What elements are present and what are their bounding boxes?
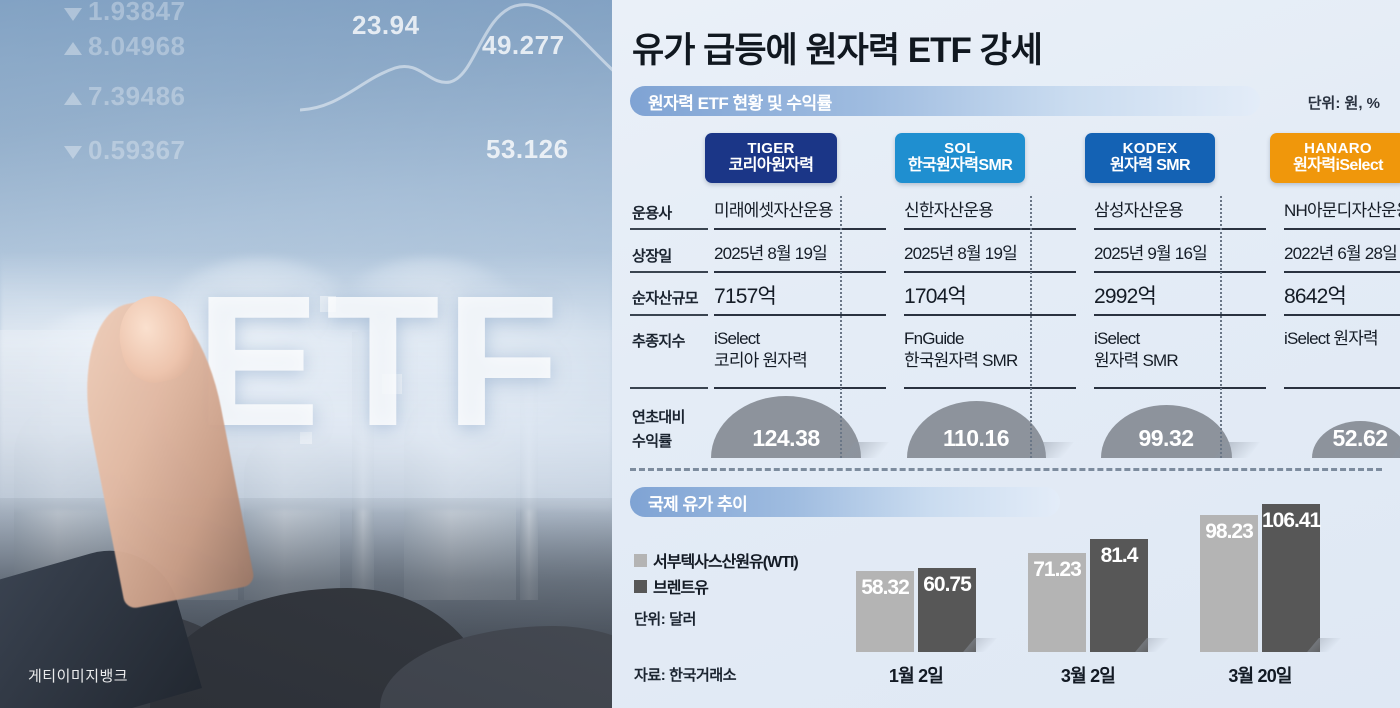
divider: [630, 271, 708, 273]
ytd-return-gauge: 124.38: [711, 396, 861, 458]
legend-swatch-brent: [634, 580, 647, 593]
hud-number: 8.04968: [88, 31, 185, 62]
divider: [904, 387, 1076, 389]
hud-number: 0.59367: [88, 135, 185, 166]
ytd-return-gauge: 99.32: [1101, 405, 1232, 458]
row-label-manager: 운용사: [632, 202, 672, 223]
legend-item-wti: 서부텍사스산원유(WTI): [634, 548, 798, 572]
legend-item-brent: 브렌트유: [634, 574, 708, 598]
hud-number: 1.93847: [88, 0, 185, 27]
divider: [630, 314, 708, 316]
section-header-etf-label: 원자력 ETF 현황 및 수익률: [630, 89, 832, 114]
up-arrow-icon: [64, 42, 82, 55]
ytd-return-value: 52.62: [1312, 425, 1400, 452]
bar-wti: 71.23: [1028, 553, 1086, 652]
index-line-1: iSelect: [1094, 329, 1139, 348]
cell-manager: 신한자산운용: [904, 200, 1076, 222]
row-label-ytd-1: 연초대비: [632, 406, 685, 427]
ytd-return-gauge: 52.62: [1312, 421, 1400, 458]
etf-badge-tiger[interactable]: TIGER 코리아원자력: [705, 133, 837, 183]
badge-brand: TIGER: [747, 141, 794, 158]
divider: [1284, 271, 1400, 273]
badge-brand: HANARO: [1304, 141, 1372, 158]
divider: [630, 387, 708, 389]
badge-product: 코리아원자력: [729, 157, 814, 175]
cell-aum: 7157억: [714, 284, 886, 311]
up-arrow-icon: [64, 92, 82, 105]
hud-line-chart: [300, 0, 612, 190]
cell-index: FnGuide한국원자력 SMR: [904, 328, 1076, 372]
bar-value: 106.41: [1262, 509, 1320, 533]
divider: [1284, 387, 1400, 389]
row-label-aum: 순자산규모: [632, 287, 698, 308]
index-line-1: FnGuide: [904, 329, 964, 348]
cell-listing-date: 2025년 8월 19일: [714, 243, 886, 265]
etf-badge-sol[interactable]: SOL 한국원자력SMR: [895, 133, 1025, 183]
column-separator: [1220, 196, 1222, 458]
bar-brent: 60.75: [918, 568, 976, 652]
bar-shadow: [1135, 638, 1169, 652]
source-note: 자료: 한국거래소: [634, 664, 736, 685]
section-divider: [630, 468, 1382, 471]
page-title: 유가 급등에 원자력 ETF 강세: [632, 22, 1042, 73]
bar-wti: 58.32: [856, 571, 914, 652]
divider: [904, 314, 1076, 316]
legend-label-wti: 서부텍사스산원유(WTI): [653, 548, 798, 572]
cell-listing-date: 2025년 8월 19일: [904, 243, 1076, 265]
cell-listing-date: 2022년 6월 28일: [1284, 243, 1400, 265]
x-axis-label: 3월 2일: [1028, 662, 1148, 688]
divider: [630, 228, 708, 230]
ytd-return-gauge: 110.16: [907, 401, 1046, 458]
divider: [714, 314, 886, 316]
badge-product: 원자력iSelect: [1293, 157, 1383, 175]
badge-brand: KODEX: [1123, 141, 1178, 158]
index-line-2: 원자력 SMR: [1094, 351, 1178, 370]
badge-product: 원자력 SMR: [1110, 157, 1190, 175]
x-axis-label: 3월 20일: [1200, 662, 1320, 688]
bar-value: 71.23: [1028, 558, 1086, 582]
ytd-return-value: 110.16: [907, 425, 1046, 452]
divider: [904, 271, 1076, 273]
cell-index: iSelect 원자력: [1284, 328, 1400, 350]
divider: [714, 271, 886, 273]
divider: [904, 228, 1076, 230]
cell-aum: 8642억: [1284, 284, 1400, 311]
row-label-ytd-2: 수익률: [632, 430, 672, 451]
divider: [1094, 314, 1266, 316]
divider: [1094, 228, 1266, 230]
cell-manager: 미래에셋자산운용: [714, 200, 886, 222]
bar-brent: 106.41: [1262, 504, 1320, 652]
badge-brand: SOL: [944, 141, 976, 158]
legend-label-brent: 브렌트유: [653, 574, 708, 598]
divider: [714, 228, 886, 230]
unit-note-etf: 단위: 원, %: [1308, 92, 1380, 113]
ytd-return-value: 99.32: [1101, 425, 1232, 452]
badge-product: 한국원자력SMR: [908, 157, 1012, 175]
etf-overlay-text: ETF: [196, 282, 565, 442]
hud-number: 7.39486: [88, 81, 185, 112]
divider: [1284, 228, 1400, 230]
etf-badge-hanaro[interactable]: HANARO 원자력iSelect: [1270, 133, 1400, 183]
divider: [714, 387, 886, 389]
bar-shadow: [1307, 638, 1341, 652]
cell-manager: NH아문디자산운용: [1284, 200, 1400, 222]
photo-watermark: 게티이미지뱅크: [28, 665, 128, 686]
cell-manager: 삼성자산운용: [1094, 200, 1266, 222]
column-separator: [1030, 196, 1032, 458]
index-line-1: iSelect 원자력: [1284, 329, 1378, 348]
cell-index: iSelect원자력 SMR: [1094, 328, 1266, 372]
index-line-2: 코리아 원자력: [714, 351, 807, 370]
cell-aum: 2992억: [1094, 284, 1266, 311]
row-label-listing-date: 상장일: [632, 245, 672, 266]
cell-index: iSelect코리아 원자력: [714, 328, 886, 372]
down-arrow-icon: [64, 146, 82, 159]
x-axis-label: 1월 2일: [856, 662, 976, 688]
section-header-oil: 국제 유가 추이: [630, 487, 1060, 517]
bar-brent: 81.4: [1090, 539, 1148, 652]
section-header-etf: 원자력 ETF 현황 및 수익률: [630, 86, 1260, 116]
etf-badge-kodex[interactable]: KODEX 원자력 SMR: [1085, 133, 1215, 183]
bar-wti: 98.23: [1200, 515, 1258, 652]
column-separator: [840, 196, 842, 458]
divider: [1094, 271, 1266, 273]
bar-value: 98.23: [1200, 520, 1258, 544]
bar-value: 58.32: [856, 576, 914, 600]
divider: [1094, 387, 1266, 389]
index-line-2: 한국원자력 SMR: [904, 351, 1018, 370]
down-arrow-icon: [64, 8, 82, 21]
ytd-return-value: 124.38: [711, 425, 861, 452]
legend-swatch-wti: [634, 554, 647, 567]
content-panel: 유가 급등에 원자력 ETF 강세 원자력 ETF 현황 및 수익률 단위: 원…: [612, 0, 1400, 708]
bar-shadow: [963, 638, 997, 652]
unit-note-oil: 단위: 달러: [634, 608, 696, 629]
bar-value: 60.75: [918, 573, 976, 597]
index-line-1: iSelect: [714, 329, 759, 348]
row-label-index: 추종지수: [632, 330, 685, 351]
hero-photo: 1.93847 8.04968 7.39486 0.59367 23.94 49…: [0, 0, 612, 708]
bar-value: 81.4: [1090, 544, 1148, 568]
cell-listing-date: 2025년 9월 16일: [1094, 243, 1266, 265]
section-header-oil-label: 국제 유가 추이: [630, 490, 747, 515]
cell-aum: 1704억: [904, 284, 1076, 311]
divider: [1284, 314, 1400, 316]
